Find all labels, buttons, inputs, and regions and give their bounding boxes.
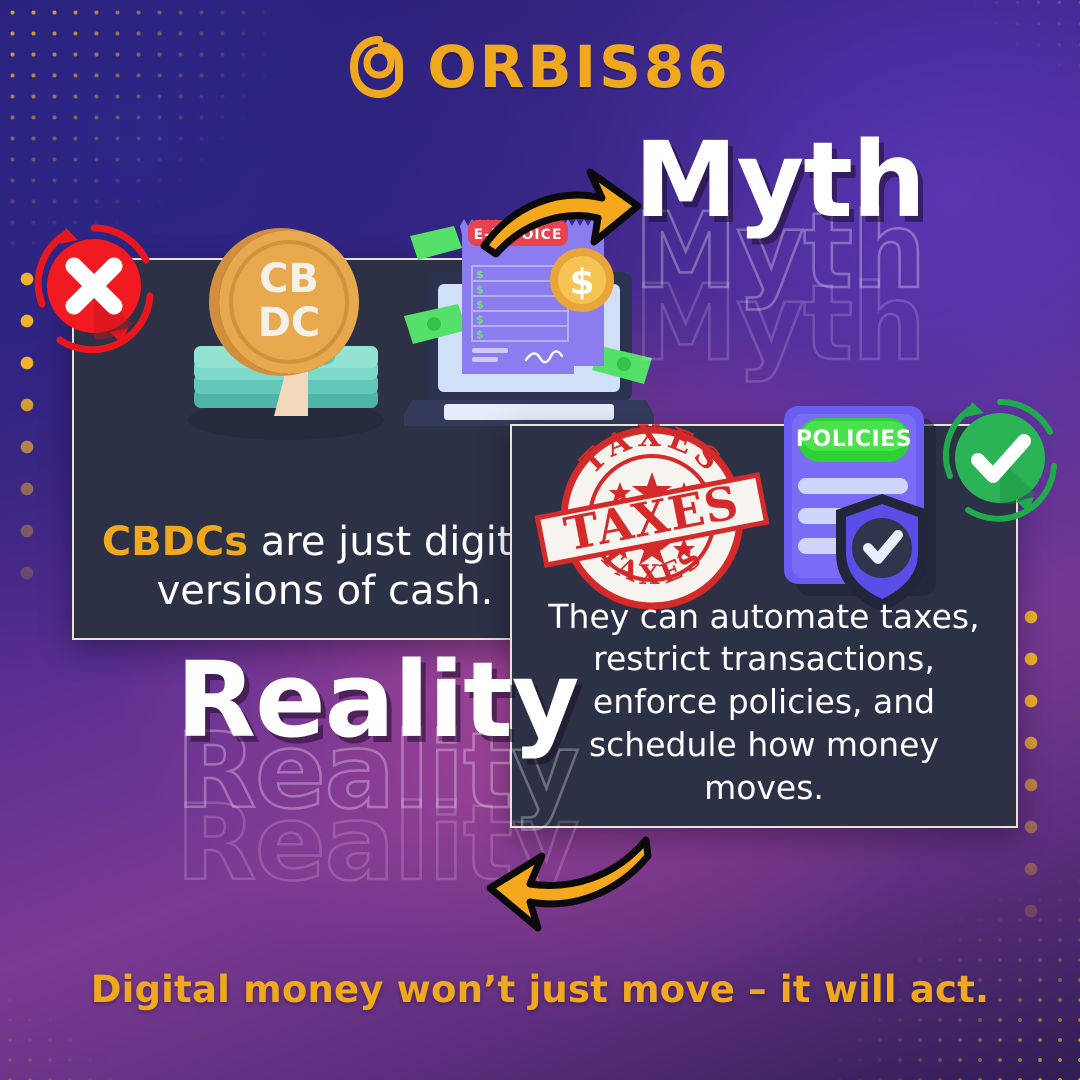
coin-label-line2: DC: [258, 300, 321, 346]
svg-text:$: $: [476, 268, 484, 281]
myth-card-text: CBDCs are just digital versions of cash.: [92, 518, 558, 616]
taxes-stamp-illustration: TAXES TAXES TAXES: [532, 420, 772, 620]
cbdc-coin-illustration: CB DC: [166, 220, 416, 450]
dollar-symbol: $: [569, 262, 594, 303]
reality-card-text: They can automate taxes, restrict transa…: [530, 596, 998, 810]
brand-header: ORBIS86: [0, 36, 1080, 98]
policies-label: POLICIES: [796, 427, 912, 452]
svg-text:$: $: [476, 328, 484, 341]
myth-heading: Myth Myth Myth: [634, 138, 925, 366]
check-mark-badge: [936, 394, 1064, 522]
coin-label-line1: CB: [259, 256, 319, 302]
curved-arrow-left-icon: [468, 826, 654, 942]
social-post-canvas: ORBIS86 Myth Myth Myth Reality Reality R…: [0, 0, 1080, 1080]
myth-highlight-word: CBDCs: [102, 519, 248, 565]
myth-heading-solid: Myth: [634, 138, 925, 223]
reality-heading-solid: Reality: [176, 658, 579, 743]
curved-arrow-right-icon: [478, 150, 646, 260]
svg-text:$: $: [476, 298, 484, 311]
orbis-monogram-icon: [349, 36, 409, 98]
tagline: Digital money won’t just move – it will …: [0, 968, 1080, 1011]
svg-text:$: $: [476, 283, 484, 296]
x-mark-badge: [26, 218, 162, 354]
cbdc-coin-icon: CB DC: [209, 228, 359, 376]
svg-text:$: $: [476, 313, 484, 326]
brand-wordmark: ORBIS86: [427, 38, 730, 96]
